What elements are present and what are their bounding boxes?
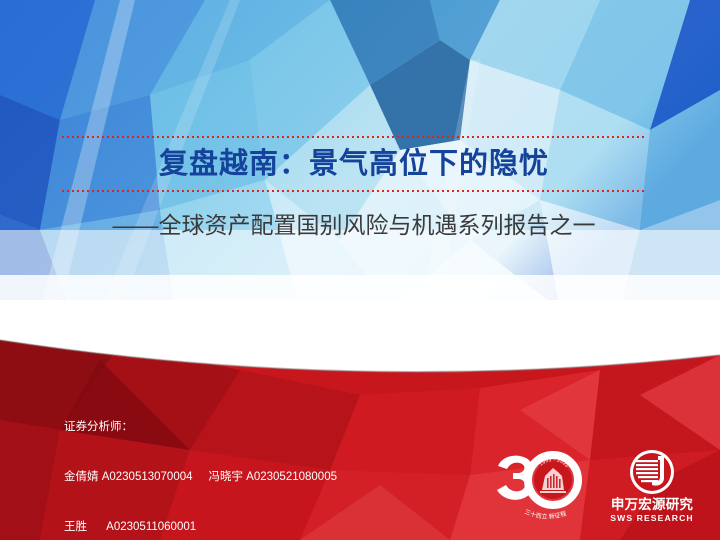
- analyst-line-2: 王胜 A0230511060001: [64, 519, 337, 536]
- page-subtitle: ——全球资产配置国别风险与机遇系列报告之一: [62, 206, 646, 240]
- analyst-heading: 证券分析师：: [64, 419, 337, 436]
- anniversary-30-logo: 1993 - 2023 三十而立 新征程: [492, 450, 584, 528]
- presentation-cover-slide: 复盘越南：景气高位下的隐忧 ——全球资产配置国别风险与机遇系列报告之一 证券分析…: [0, 0, 720, 540]
- sws-company-name-en: SWS RESEARCH: [610, 513, 693, 523]
- anniversary-seal-slogan: 三十而立 新征程: [523, 509, 567, 521]
- sws-emblem-icon: [630, 450, 674, 494]
- dotted-rule-bottom: [62, 190, 646, 192]
- title-block: 复盘越南：景气高位下的隐忧 ——全球资产配置国别风险与机遇系列报告之一: [62, 136, 646, 192]
- svg-text:三十而立 新征程: 三十而立 新征程: [523, 509, 567, 521]
- analyst-info-block: 证券分析师： 金倩婧 A0230513070004 冯晓宇 A023052108…: [64, 386, 337, 540]
- analyst-line-1: 金倩婧 A0230513070004 冯晓宇 A0230521080005: [64, 469, 337, 486]
- sws-research-logo: 申万宏源研究 SWS RESEARCH: [600, 448, 704, 528]
- page-title: 复盘越南：景气高位下的隐忧: [62, 138, 646, 190]
- sws-company-name-cn: 申万宏源研究: [611, 496, 693, 512]
